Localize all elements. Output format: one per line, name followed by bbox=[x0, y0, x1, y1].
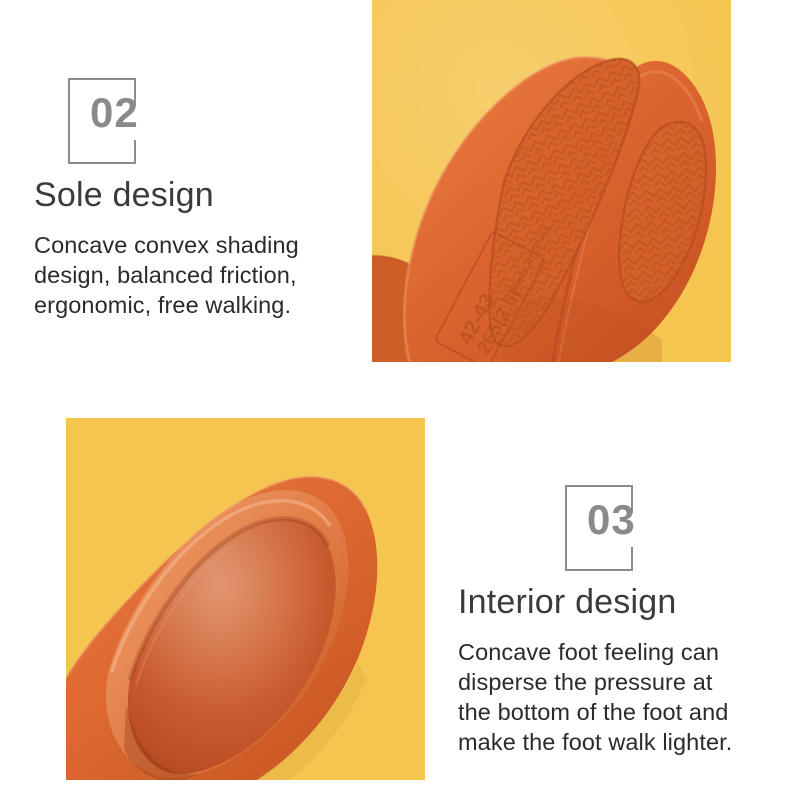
number-badge-03: 03 bbox=[565, 485, 633, 571]
feature-block-sole-design: 02 Sole design Concave convex shading de… bbox=[34, 78, 299, 320]
feature-body-interior-design: Concave foot feeling can disperse the pr… bbox=[458, 637, 732, 757]
feature-title-sole-design: Sole design bbox=[34, 178, 299, 214]
interior-illustration bbox=[66, 418, 425, 780]
photo-interior-design bbox=[66, 418, 425, 780]
number-label: 03 bbox=[587, 499, 636, 541]
number-label: 02 bbox=[90, 92, 139, 134]
feature-body-sole-design: Concave convex shading design, balanced … bbox=[34, 230, 299, 320]
sole-illustration: 42-43 265(2.5) Made in China bbox=[372, 0, 731, 362]
feature-block-interior-design: 03 Interior design Concave foot feeling … bbox=[458, 485, 732, 757]
number-badge-02: 02 bbox=[68, 78, 136, 164]
photo-sole-design: 42-43 265(2.5) Made in China bbox=[372, 0, 731, 362]
feature-title-interior-design: Interior design bbox=[458, 585, 732, 621]
